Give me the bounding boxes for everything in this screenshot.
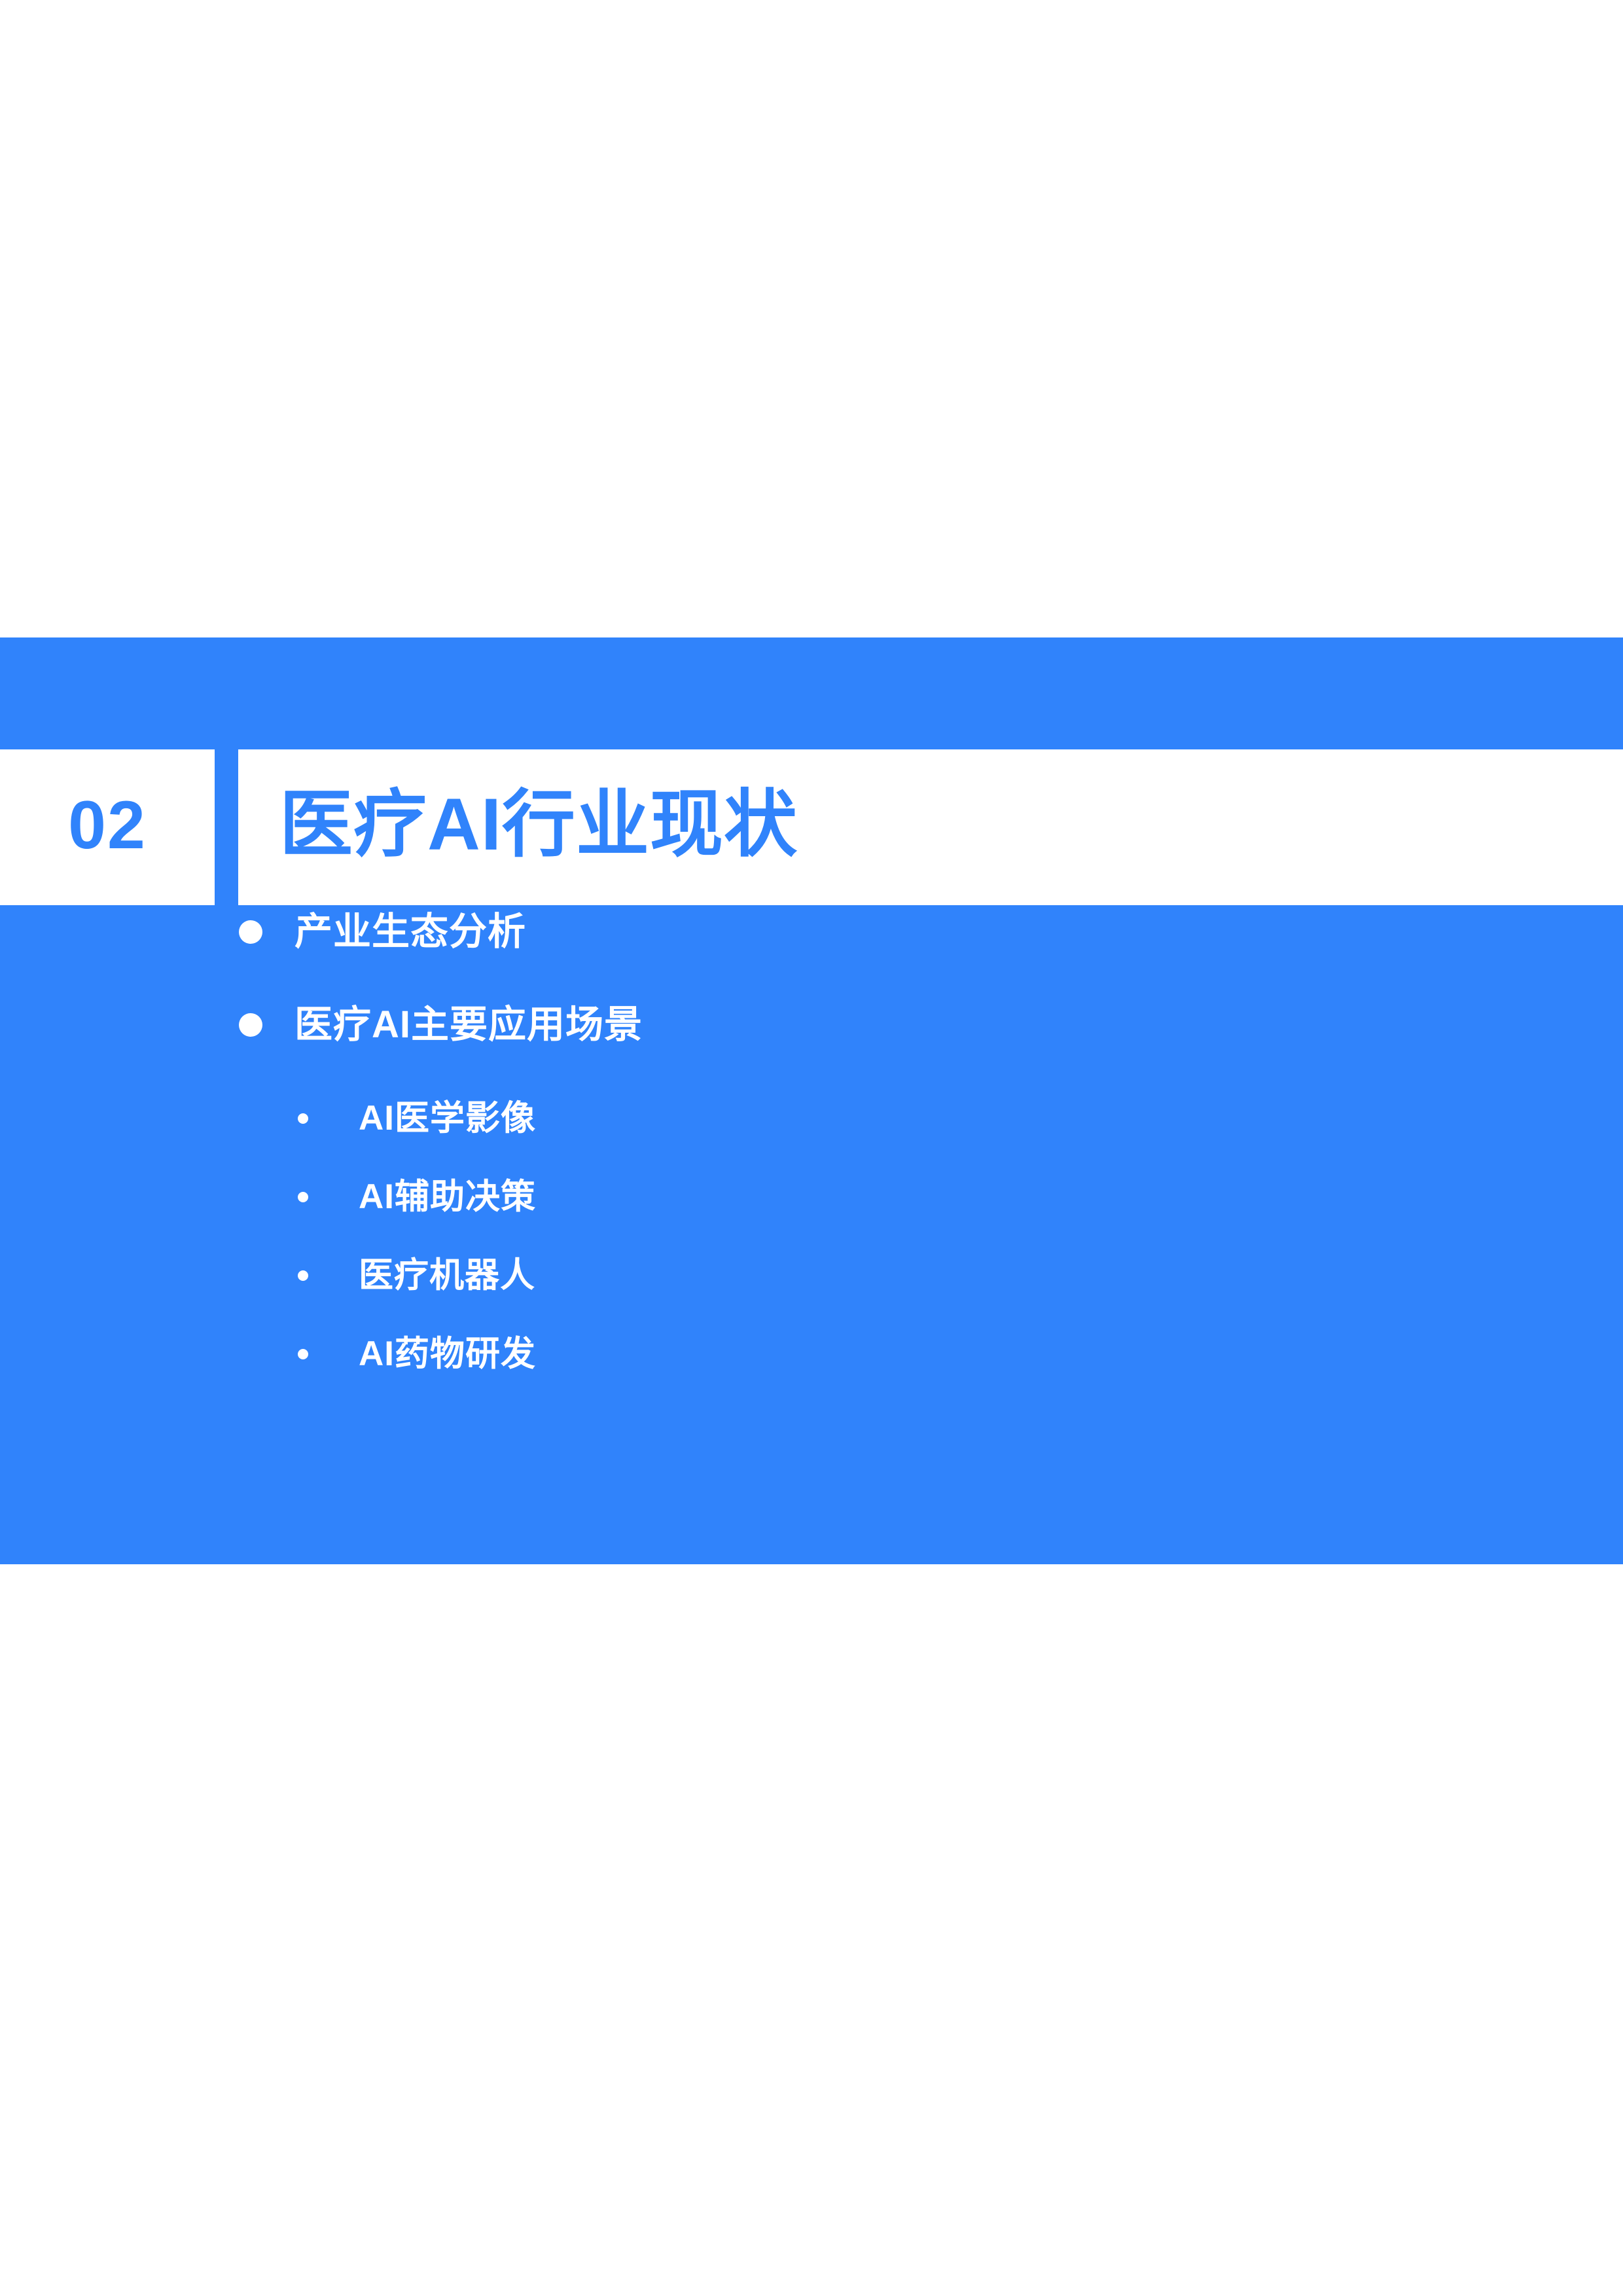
circle-bullet-icon	[239, 1013, 262, 1037]
dot-bullet-icon	[298, 1113, 308, 1124]
page-title: 医疗AI行业现状	[279, 749, 798, 905]
list-item: AI药物研发	[0, 1327, 1623, 1405]
title-band-divider	[215, 749, 238, 905]
list-item-label: 产业生态分析	[294, 905, 526, 959]
list-item: 医疗机器人	[0, 1248, 1623, 1327]
list-item: AI医学影像	[0, 1091, 1623, 1170]
section-divider-slide: 02 医疗AI行业现状 产业生态分析 医疗AI主要应用场景 AI医学影像 AI辅…	[0, 637, 1623, 1564]
list-item-label: AI医学影像	[359, 1091, 536, 1146]
list-item: AI辅助决策	[0, 1170, 1623, 1248]
dot-bullet-icon	[298, 1349, 308, 1359]
dot-bullet-icon	[298, 1270, 308, 1281]
circle-bullet-icon	[239, 920, 262, 944]
list-item: 医疗AI主要应用场景	[0, 998, 1623, 1091]
list-item-label: 医疗AI主要应用场景	[294, 998, 643, 1052]
list-item-label: AI辅助决策	[359, 1170, 536, 1225]
section-number: 02	[0, 749, 215, 905]
list-item-label: AI药物研发	[359, 1327, 536, 1382]
list-item-label: 医疗机器人	[359, 1248, 535, 1303]
dot-bullet-icon	[298, 1192, 308, 1202]
section-title-band: 02 医疗AI行业现状	[0, 749, 1623, 905]
slide-outline-list: 产业生态分析 医疗AI主要应用场景 AI医学影像 AI辅助决策 医疗机器人 AI…	[0, 905, 1623, 1405]
list-item: 产业生态分析	[0, 905, 1623, 998]
